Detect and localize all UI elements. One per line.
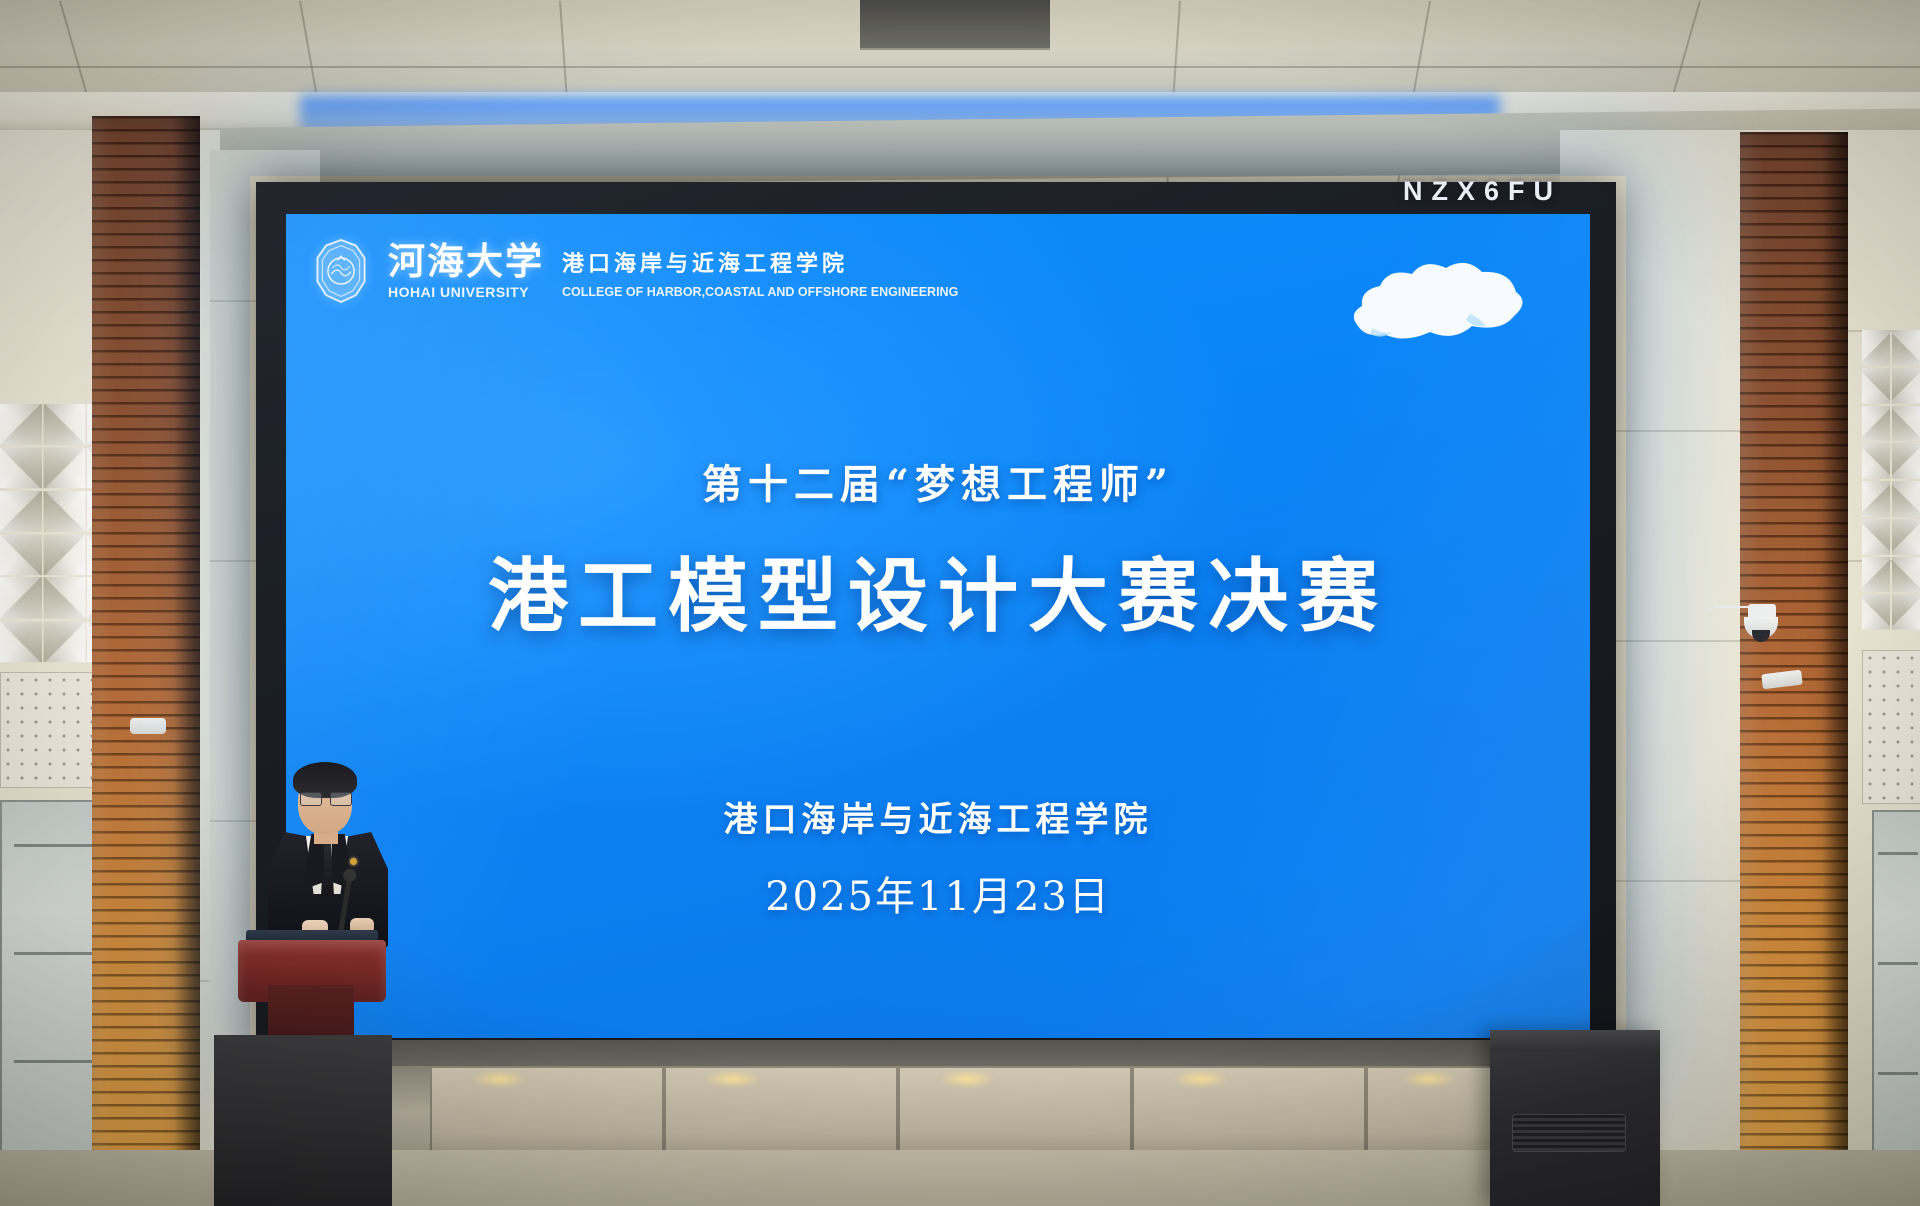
organizer-text: 港口海岸与近海工程学院 — [286, 792, 1590, 841]
ptz-camera-icon — [1740, 604, 1782, 650]
wood-slat-column — [92, 116, 200, 1176]
scene-root: NZX6FU 河海大学 HOHAI UNIVERSITY 港口海岸与近海工程学院 — [0, 0, 1920, 1206]
event-date: 2025年11月23日 — [286, 864, 1590, 922]
university-name-cn: 河海大学 — [388, 243, 544, 280]
stage-loudspeaker — [1490, 1030, 1660, 1206]
stage-light — [938, 1070, 996, 1088]
stage-light — [1400, 1070, 1458, 1088]
wood-slat-column — [1740, 132, 1848, 1172]
wall-outlet-icon — [130, 718, 166, 734]
stage-light — [1172, 1070, 1230, 1088]
perforated-acoustic-panel — [1862, 650, 1920, 804]
triangular-acoustic-panel — [1862, 330, 1920, 630]
watermark-text: NZX6FU — [1403, 176, 1562, 207]
lapel-pin-icon — [350, 858, 357, 865]
ceiling-vent — [860, 0, 1050, 50]
university-name-block: 河海大学 HOHAI UNIVERSITY — [388, 243, 544, 299]
university-name-en: HOHAI UNIVERSITY — [388, 285, 544, 299]
glass-door[interactable] — [1872, 810, 1920, 1154]
college-name-block: 港口海岸与近海工程学院 COLLEGE OF HARBOR,COASTAL AN… — [562, 254, 958, 299]
hohai-university-crest-icon — [310, 238, 372, 304]
stage-panel — [664, 1068, 898, 1160]
event-title: 港工模型设计大赛决赛 — [286, 532, 1590, 648]
stage-panel — [898, 1068, 1132, 1160]
brand-header: 河海大学 HOHAI UNIVERSITY 港口海岸与近海工程学院 COLLEG… — [310, 238, 958, 304]
event-subtitle: 第十二届“梦想工程师” — [286, 452, 1590, 510]
glasses-icon — [300, 792, 350, 804]
stage-light — [704, 1070, 762, 1088]
presenter — [262, 762, 394, 948]
stage-panel — [1132, 1068, 1366, 1160]
podium-base — [214, 1035, 392, 1206]
cloud-icon — [1342, 248, 1532, 352]
stage-front-band — [220, 1040, 1620, 1066]
college-name-cn: 港口海岸与近海工程学院 — [562, 254, 958, 279]
stage-panel — [430, 1068, 664, 1160]
title-block: 第十二届“梦想工程师” 港工模型设计大赛决赛 — [286, 452, 1590, 648]
led-screen: 河海大学 HOHAI UNIVERSITY 港口海岸与近海工程学院 COLLEG… — [286, 214, 1590, 1038]
stage-light — [470, 1070, 528, 1088]
college-name-en: COLLEGE OF HARBOR,COASTAL AND OFFSHORE E… — [562, 285, 958, 299]
